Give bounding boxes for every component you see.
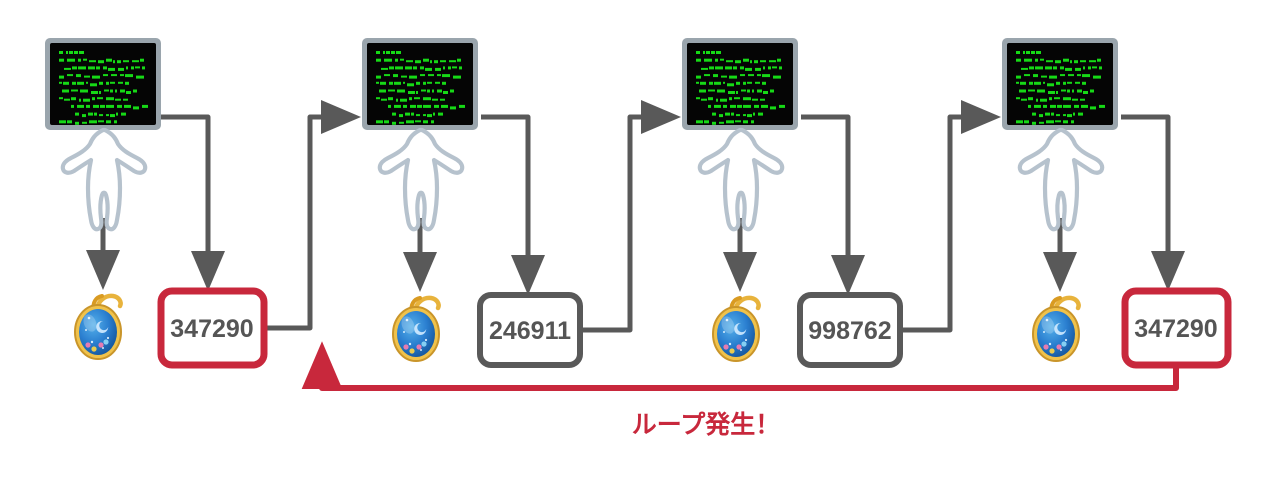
value-box-1[interactable]: 347290: [161, 291, 264, 365]
value-box-2[interactable]: 246911: [480, 295, 580, 365]
agent-2[interactable]: [362, 38, 478, 229]
agent-1[interactable]: [45, 38, 161, 229]
connector-agent3-to-box3: [801, 117, 848, 286]
loop-label: ループ発生！: [632, 410, 781, 439]
connector-agent1-to-box1: [161, 117, 208, 282]
value-box-3[interactable]: 998762: [800, 295, 900, 365]
value-box-4-label: 347290: [1134, 315, 1217, 343]
value-box-3-label: 998762: [808, 317, 891, 345]
agent-3[interactable]: [682, 38, 798, 229]
value-box-4[interactable]: 347290: [1125, 291, 1228, 365]
amulet-4[interactable]: [1033, 298, 1079, 361]
amulet-3[interactable]: [713, 298, 759, 361]
diagram-svg: 0%: [0, 0, 1262, 484]
diagram-canvas: 0%: [0, 0, 1262, 484]
value-box-1-label: 347290: [170, 315, 253, 343]
connector-box2-to-agent3: [582, 117, 672, 330]
amulet-1[interactable]: [75, 296, 121, 359]
connector-box3-to-agent4: [902, 117, 992, 330]
value-box-2-label: 246911: [489, 317, 571, 345]
connector-agent4-to-box4: [1121, 117, 1168, 282]
agent-4[interactable]: [1002, 38, 1118, 229]
connector-box1-to-agent2: [264, 117, 352, 328]
amulet-2[interactable]: [393, 298, 439, 361]
connector-agent2-to-box2: [481, 117, 528, 286]
